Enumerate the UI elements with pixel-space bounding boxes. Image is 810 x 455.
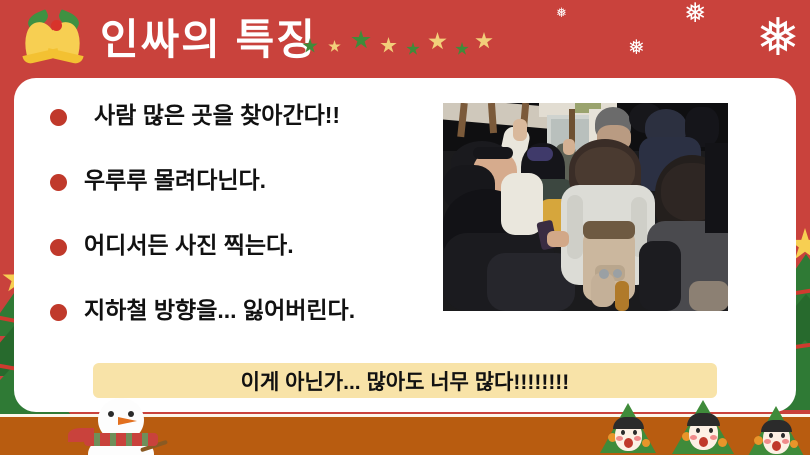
elf-cheek bbox=[616, 436, 623, 441]
list-item-label: 사람 많은 곳을 찾아간다!! bbox=[94, 96, 340, 130]
subway-crowd-photo bbox=[443, 103, 728, 311]
star-decoration-row bbox=[302, 24, 492, 60]
tree-costume-character bbox=[672, 400, 734, 455]
list-item-label: 우루루 몰려다닌다. bbox=[84, 161, 266, 195]
list-item: 우루루 몰려다닌다. bbox=[46, 161, 426, 226]
elf-cheek bbox=[764, 439, 771, 444]
star-icon bbox=[428, 32, 447, 51]
snowflake-icon: ❅ bbox=[684, 0, 707, 27]
list-item: 지하철 방향을... 잃어버린다. bbox=[46, 291, 426, 356]
snowflake-icon: ❅ bbox=[556, 6, 567, 19]
elf-eye bbox=[781, 433, 785, 438]
elf-ornament bbox=[718, 438, 727, 447]
star-icon bbox=[475, 32, 493, 50]
elf-cheek bbox=[710, 435, 717, 440]
elf-cheek bbox=[782, 439, 789, 444]
snowflake-icon: ❅ bbox=[756, 12, 800, 64]
snowman-scarf-stripe bbox=[94, 433, 100, 446]
elf-eye bbox=[696, 428, 700, 433]
elf-mouth bbox=[624, 438, 633, 448]
elf-mouth bbox=[699, 437, 708, 447]
elf-ornament bbox=[754, 436, 763, 445]
elf-ornament bbox=[790, 440, 798, 448]
star-icon bbox=[406, 42, 420, 56]
snowman-eye bbox=[108, 411, 114, 417]
elf-cheek bbox=[634, 436, 641, 441]
elf-hair bbox=[761, 420, 792, 432]
holly-berry-icon bbox=[51, 20, 62, 31]
elf-hair bbox=[687, 413, 720, 426]
bullet-dot-icon bbox=[50, 239, 67, 256]
christmas-bells-icon bbox=[22, 8, 94, 66]
tree-costume-character bbox=[748, 406, 804, 455]
caption-text: 이게 아닌가... 많아도 너무 많다!!!!!!!! bbox=[241, 366, 570, 396]
tree-costume-character bbox=[600, 403, 656, 455]
snowman-scarf-stripe bbox=[142, 433, 148, 446]
snowflake-icon: ❅ bbox=[628, 38, 645, 58]
list-item-label: 어디서든 사진 찍는다. bbox=[84, 226, 294, 260]
star-icon bbox=[380, 37, 397, 54]
bullet-dot-icon bbox=[50, 174, 67, 191]
elf-cheek bbox=[690, 435, 697, 440]
snowman-scarf-stripe bbox=[126, 433, 132, 446]
elf-eye bbox=[709, 428, 713, 433]
elf-hair bbox=[613, 417, 644, 429]
elf-mouth bbox=[772, 441, 781, 451]
list-item-label: 지하철 방향을... 잃어버린다. bbox=[84, 291, 355, 325]
snowman-scarf-stripe bbox=[110, 433, 116, 446]
star-icon bbox=[302, 38, 318, 54]
bullet-list: 사람 많은 곳을 찾아간다!! 우루루 몰려다닌다. 어디서든 사진 찍는다. … bbox=[46, 96, 426, 356]
bullet-dot-icon bbox=[50, 109, 67, 126]
elf-eye bbox=[621, 430, 625, 435]
slide-canvas: ❅ ❅ ❅ ❅ 인싸의 특징 bbox=[0, 0, 810, 455]
elf-eye bbox=[769, 433, 773, 438]
bullet-dot-icon bbox=[50, 304, 67, 321]
caption-banner: 이게 아닌가... 많아도 너무 많다!!!!!!!! bbox=[93, 363, 717, 398]
star-icon bbox=[351, 30, 371, 50]
elf-eye bbox=[633, 430, 637, 435]
elf-ornament bbox=[642, 439, 650, 447]
star-icon bbox=[455, 42, 469, 56]
page-title: 인싸의 특징 bbox=[100, 6, 317, 67]
list-item: 사람 많은 곳을 찾아간다!! bbox=[46, 96, 426, 161]
star-icon bbox=[328, 40, 341, 53]
list-item: 어디서든 사진 찍는다. bbox=[46, 226, 426, 291]
snowman-eye bbox=[128, 411, 134, 417]
snowman-icon bbox=[78, 398, 164, 455]
